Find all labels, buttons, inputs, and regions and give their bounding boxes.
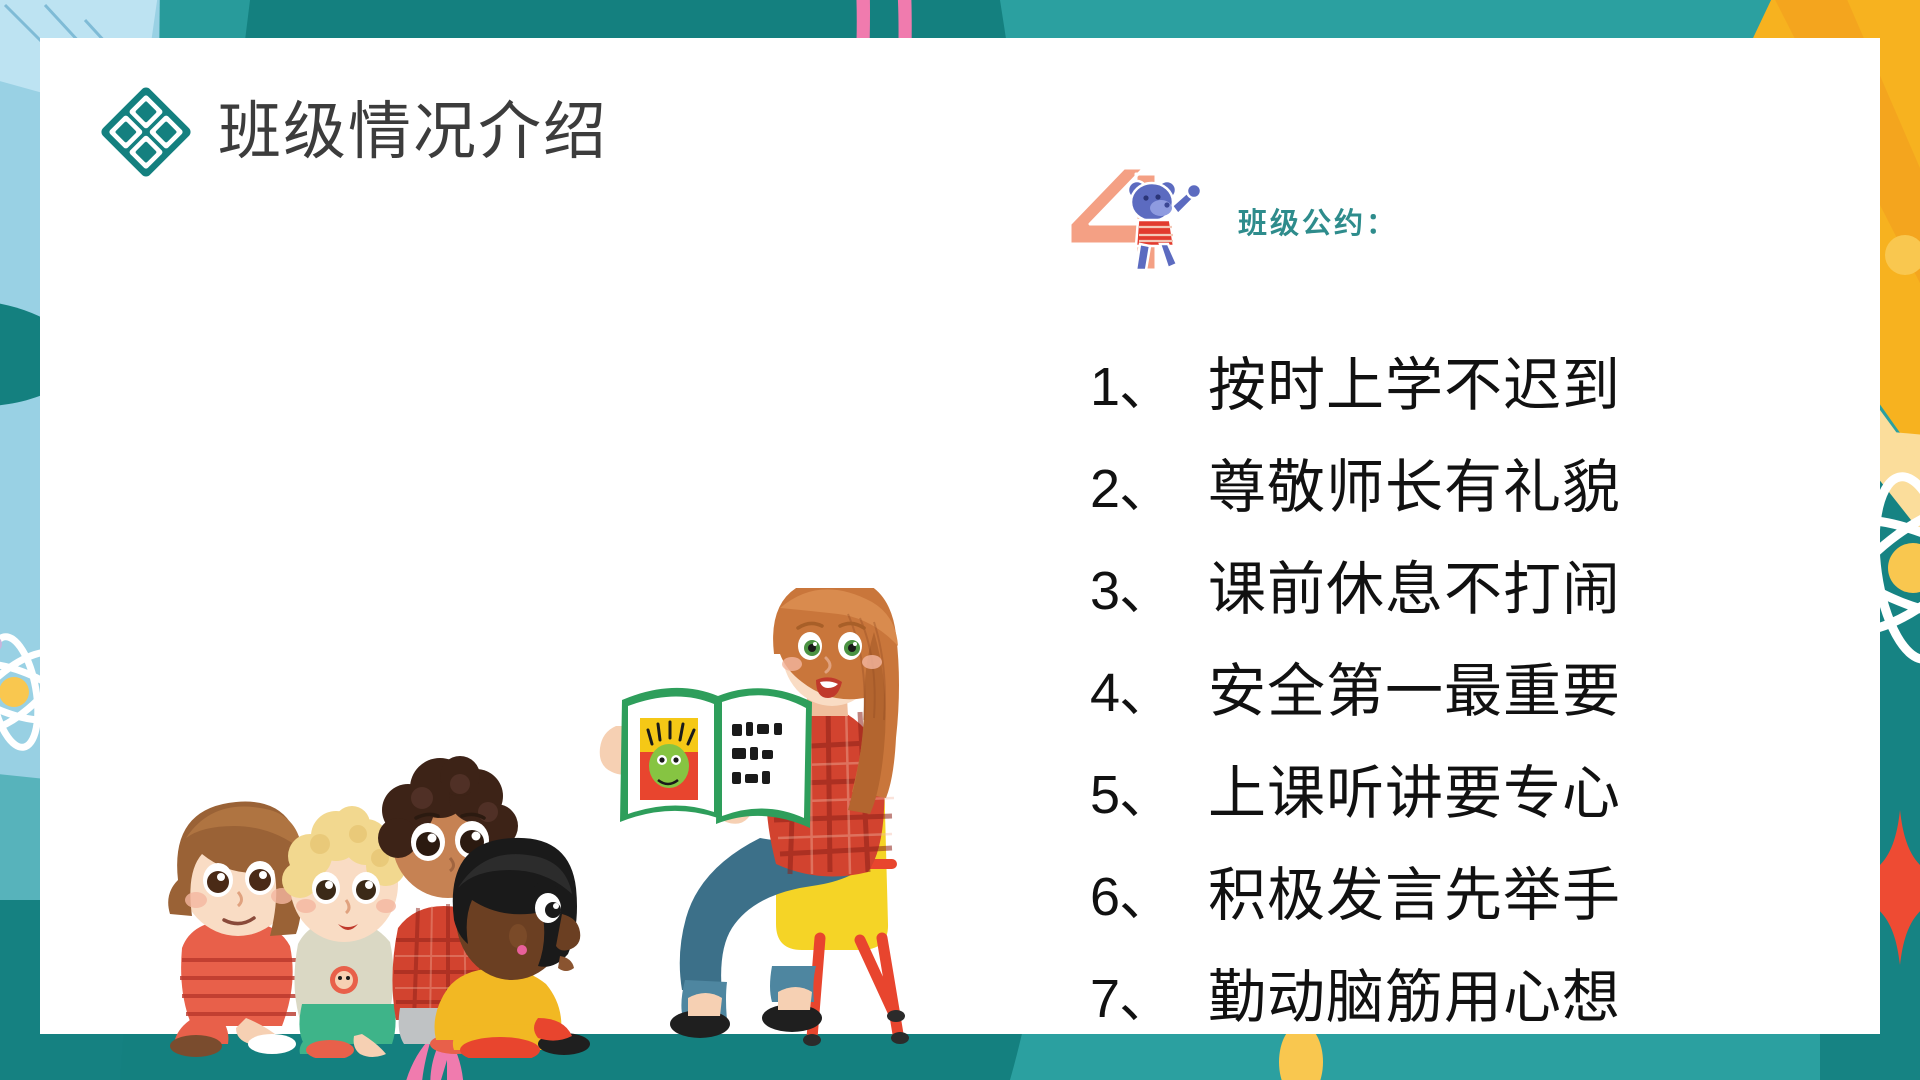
- list-item-number: 3、: [1090, 546, 1208, 625]
- teacher-reading-to-children-illustration: [160, 588, 980, 1058]
- list-item: 2、 尊敬师长有礼貌: [1090, 440, 1790, 524]
- content-card: 班级情况介绍: [40, 38, 1880, 1034]
- list-item-label: 上课听讲要专心: [1208, 746, 1621, 830]
- list-item-label: 尊敬师长有礼貌: [1208, 440, 1621, 524]
- picture-book: [620, 688, 812, 828]
- slide-root: 班级情况介绍: [0, 0, 1920, 1080]
- list-item-label: 按时上学不迟到: [1208, 338, 1621, 422]
- list-item: 7、 勤动脑筋用心想: [1090, 950, 1790, 1034]
- class-rules-list: 1、 按时上学不迟到 2、 尊敬师长有礼貌 3、 课前休息不打闹 4、 安全第一…: [1090, 338, 1790, 1052]
- section-marker: 班级公约：: [1050, 166, 1398, 276]
- list-item-number: 4、: [1090, 648, 1208, 727]
- section-number-with-mascot: [1050, 166, 1220, 276]
- list-item: 3、 课前休息不打闹: [1090, 542, 1790, 626]
- list-item-number: 7、: [1090, 954, 1208, 1033]
- diamond-cluster-icon: [100, 86, 192, 178]
- page-title: 班级情况介绍: [218, 101, 608, 164]
- list-item-label: 课前休息不打闹: [1208, 542, 1621, 626]
- list-item-label: 安全第一最重要: [1208, 644, 1621, 728]
- list-item-number: 6、: [1090, 852, 1208, 931]
- list-item-number: 5、: [1090, 750, 1208, 829]
- section-label: 班级公约：: [1238, 200, 1398, 242]
- list-item: 5、 上课听讲要专心: [1090, 746, 1790, 830]
- list-item: 4、 安全第一最重要: [1090, 644, 1790, 728]
- list-item: 1、 按时上学不迟到: [1090, 338, 1790, 422]
- blue-bear-mascot-icon: [1128, 181, 1201, 270]
- teacher-figure: [600, 588, 909, 1046]
- page-header: 班级情况介绍: [100, 86, 608, 178]
- list-item-label: 积极发言先举手: [1208, 848, 1621, 932]
- list-item-number: 2、: [1090, 444, 1208, 523]
- list-item: 6、 积极发言先举手: [1090, 848, 1790, 932]
- list-item-label: 勤动脑筋用心想: [1208, 950, 1621, 1034]
- child-brown-bob: [168, 802, 302, 1057]
- list-item-number: 1、: [1090, 342, 1208, 421]
